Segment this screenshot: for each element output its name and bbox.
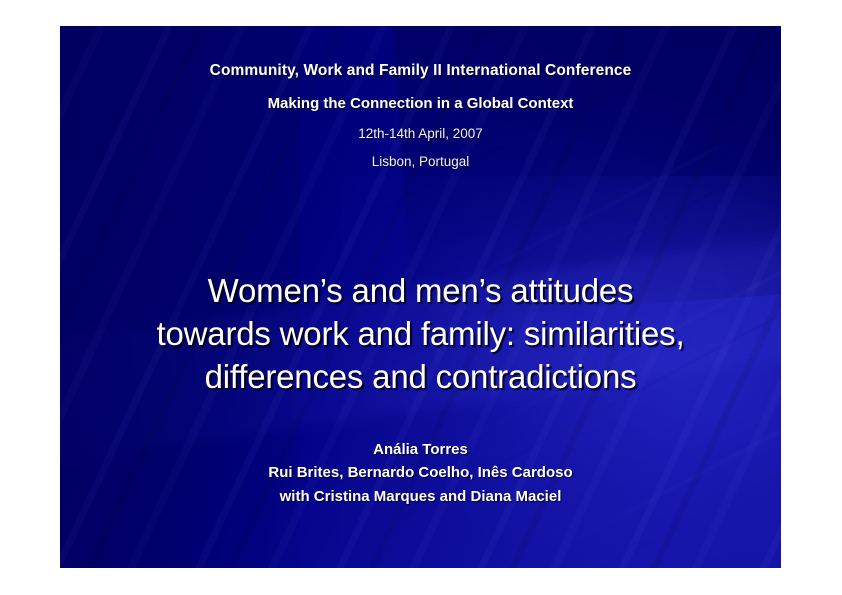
author-list: Anália Torres Rui Brites, Bernardo Coelh… — [60, 438, 781, 508]
slide-canvas: Community, Work and Family II Internatio… — [0, 0, 842, 595]
slide-content: Community, Work and Family II Internatio… — [60, 26, 781, 568]
title-line-1: Women’s and men’s attitudes — [96, 270, 745, 313]
author-contributors: with Cristina Marques and Diana Maciel — [60, 485, 781, 508]
conference-subtitle: Making the Connection in a Global Contex… — [60, 95, 781, 113]
conference-name: Community, Work and Family II Internatio… — [60, 62, 781, 81]
title-line-3: differences and contradictions — [96, 356, 745, 399]
presentation-slide: Community, Work and Family II Internatio… — [60, 26, 781, 568]
presentation-title: Women’s and men’s attitudes towards work… — [96, 270, 745, 399]
conference-header: Community, Work and Family II Internatio… — [60, 62, 781, 170]
author-co-authors: Rui Brites, Bernardo Coelho, Inês Cardos… — [60, 461, 781, 484]
author-primary: Anália Torres — [60, 438, 781, 461]
conference-dates: 12th-14th April, 2007 — [60, 126, 781, 142]
conference-location: Lisbon, Portugal — [60, 154, 781, 170]
title-line-2: towards work and family: similarities, — [96, 313, 745, 356]
